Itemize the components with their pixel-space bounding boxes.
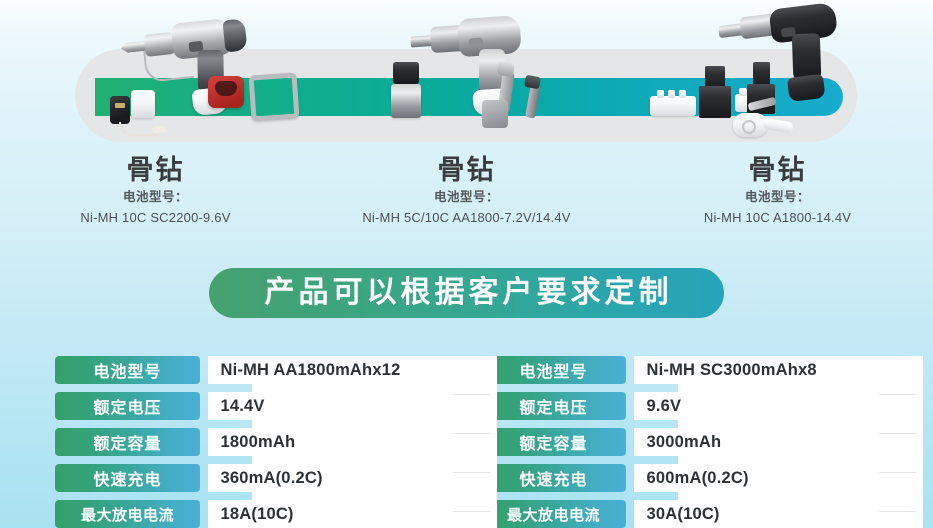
spec-row: 最大放电电流 30A(10C): [481, 500, 879, 528]
spec-label: 额定容量: [481, 428, 626, 456]
customization-banner-wrap: 产品可以根据客户要求定制: [0, 268, 933, 318]
product-title: 骨钻: [0, 153, 311, 187]
spec-row: 快速充电 600mA(0.2C): [481, 464, 879, 492]
bone-drill-icon: [409, 6, 545, 111]
drill-bit-head-icon: [524, 75, 541, 89]
spec-value-cell: 9.6V: [634, 392, 879, 420]
spec-row: 额定容量 3000mAh: [481, 428, 879, 456]
metal-frame-icon: [248, 72, 299, 121]
spec-label: 额定电压: [481, 392, 626, 420]
white-connector-pin-icon: [657, 90, 664, 98]
spec-label: 电池型号: [55, 356, 200, 384]
product-title: 骨钻: [622, 153, 933, 187]
spec-value-cell: 3000mAh: [634, 428, 879, 456]
spec-label: 额定容量: [55, 428, 200, 456]
spec-value: 18A(10C): [221, 505, 294, 524]
spec-value-cell: Ni-MH AA1800mAhx12: [208, 356, 453, 384]
battery-body-icon: [391, 84, 421, 118]
white-connector-pin-icon: [679, 90, 686, 98]
spec-value: Ni-MH SC3000mAhx8: [647, 361, 817, 380]
spec-label: 快速充电: [55, 464, 200, 492]
spec-value: 14.4V: [221, 397, 265, 416]
hero-banner: [0, 0, 933, 150]
white-connector-icon: [650, 96, 696, 116]
spec-value-cell: Ni-MH SC3000mAhx8: [634, 356, 879, 384]
spec-row: 额定电压 14.4V: [55, 392, 453, 420]
spec-label: 最大放电电流: [481, 500, 626, 528]
spec-label: 电池型号: [481, 356, 626, 384]
spec-table-left: 电池型号 Ni-MH AA1800mAhx12 额定电压 14.4V 额定容量 …: [55, 356, 453, 528]
product-caption-3: 骨钻 电池型号： Ni-MH 10C A1800-14.4V: [622, 150, 933, 245]
product-model-value: Ni-MH 10C A1800-14.4V: [622, 208, 933, 228]
spec-value: 1800mAh: [221, 433, 296, 452]
spec-value-cell: 18A(10C): [208, 500, 453, 528]
white-connector-pin-icon: [668, 90, 675, 98]
spec-value-cell: 1800mAh: [208, 428, 453, 456]
spec-row: 快速充电 360mA(0.2C): [55, 464, 453, 492]
spec-row: 额定电压 9.6V: [481, 392, 879, 420]
spec-value: 3000mAh: [647, 433, 722, 452]
spec-row: 额定容量 1800mAh: [55, 428, 453, 456]
spec-value-cell: 360mA(0.2C): [208, 464, 453, 492]
grey-accessory-icon: [482, 100, 508, 128]
cable-plug-icon: [152, 126, 166, 133]
spec-value-cell: 30A(10C): [634, 500, 879, 528]
spec-value: 9.6V: [647, 397, 682, 416]
customization-banner: 产品可以根据客户要求定制: [209, 268, 724, 318]
product-model-label: 电池型号：: [311, 187, 622, 208]
spec-label: 额定电压: [55, 392, 200, 420]
battery-pack-icon: [393, 62, 419, 84]
spec-value-cell: 14.4V: [208, 392, 453, 420]
product-title: 骨钻: [311, 153, 622, 187]
product-caption-2: 骨钻 电池型号： Ni-MH 5C/10C AA1800-7.2V/14.4V: [311, 150, 622, 245]
spec-value-cell: 600mA(0.2C): [634, 464, 879, 492]
white-handpiece-icon: [733, 113, 767, 137]
spec-value: 600mA(0.2C): [647, 469, 749, 488]
product-model-label: 电池型号：: [0, 187, 311, 208]
spec-tables: 电池型号 Ni-MH AA1800mAhx12 额定电压 14.4V 额定容量 …: [0, 356, 933, 528]
product-caption-1: 骨钻 电池型号： Ni-MH 10C SC2200-9.6V: [0, 150, 311, 245]
product-model-value: Ni-MH 5C/10C AA1800-7.2V/14.4V: [311, 208, 622, 228]
spec-table-right: 电池型号 Ni-MH SC3000mAhx8 额定电压 9.6V 额定容量 30…: [481, 356, 879, 528]
product-model-label: 电池型号：: [622, 187, 933, 208]
bone-drill-icon: [118, 5, 267, 109]
spec-row: 最大放电电流 18A(10C): [55, 500, 453, 528]
spec-row: 电池型号 Ni-MH AA1800mAhx12: [55, 356, 453, 384]
product-model-value: Ni-MH 10C SC2200-9.6V: [0, 208, 311, 228]
bone-drill-icon: [717, 0, 858, 110]
drill-bit-head-icon: [497, 61, 515, 77]
spec-value: Ni-MH AA1800mAhx12: [221, 361, 401, 380]
spec-value: 360mA(0.2C): [221, 469, 323, 488]
spec-label: 最大放电电流: [55, 500, 200, 528]
red-case-icon: [208, 76, 244, 108]
spec-label: 快速充电: [481, 464, 626, 492]
spec-value: 30A(10C): [647, 505, 720, 524]
charger-led-icon: [115, 103, 125, 108]
customization-banner-text: 产品可以根据客户要求定制: [261, 278, 673, 308]
spec-row: 电池型号 Ni-MH SC3000mAhx8: [481, 356, 879, 384]
product-captions: 骨钻 电池型号： Ni-MH 10C SC2200-9.6V 骨钻 电池型号： …: [0, 150, 933, 245]
